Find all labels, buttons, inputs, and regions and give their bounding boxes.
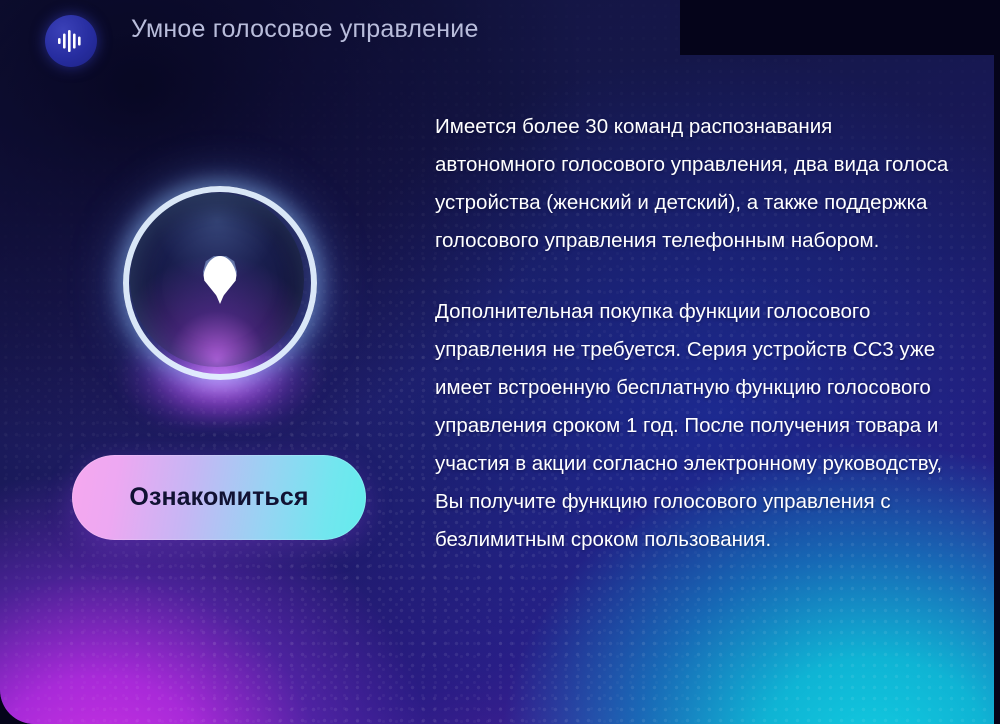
paragraph-1: Имеется более 30 команд распознавания ав… bbox=[435, 108, 955, 260]
header-bar: Умное голосовое управление bbox=[0, 0, 1000, 58]
paragraph-2: Дополнительная покупка функции голосовог… bbox=[435, 293, 955, 559]
page-title: Умное голосовое управление bbox=[131, 0, 479, 58]
description-text-block: Имеется более 30 команд распознавания ав… bbox=[435, 108, 955, 559]
learn-more-button[interactable]: Ознакомиться bbox=[72, 455, 366, 540]
voice-waveform-icon bbox=[45, 15, 97, 67]
slide-root: Умное голосовое управление Ознакомиться … bbox=[0, 0, 1000, 724]
voice-assistant-orb-icon bbox=[123, 186, 317, 380]
